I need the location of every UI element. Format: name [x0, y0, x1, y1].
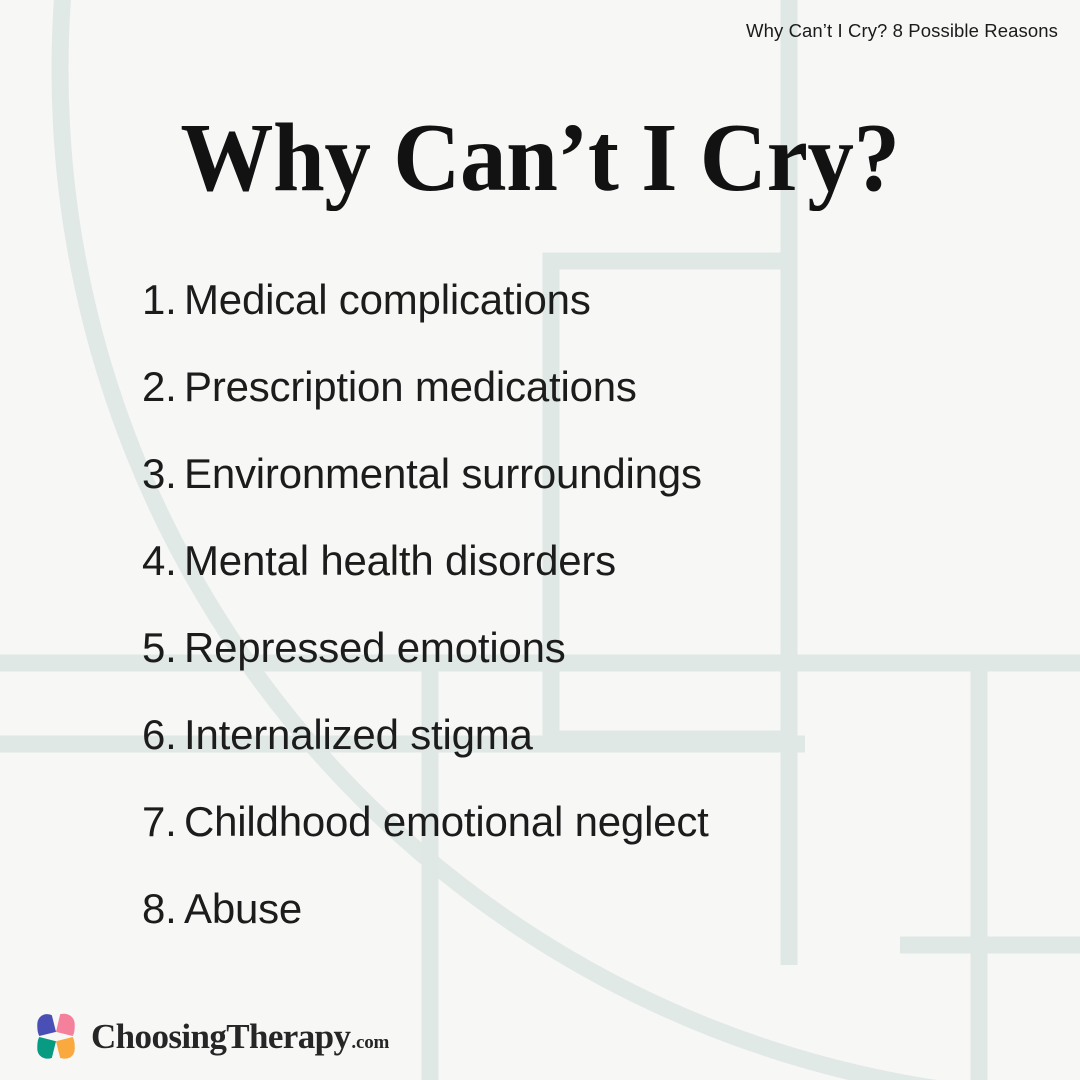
infographic-canvas: Why Can’t I Cry? 8 Possible Reasons Why …: [0, 0, 1080, 1080]
list-item-number: 7.: [142, 798, 184, 846]
list-item-label: Childhood emotional neglect: [184, 798, 962, 846]
reasons-list: 1. Medical complications 2. Prescription…: [142, 276, 962, 972]
logo-tld: .com: [351, 1033, 389, 1052]
choosingtherapy-flower-icon: [30, 1010, 82, 1062]
list-item: 7. Childhood emotional neglect: [142, 798, 962, 885]
list-item-number: 3.: [142, 450, 184, 498]
article-eyebrow: Why Can’t I Cry? 8 Possible Reasons: [746, 20, 1058, 42]
list-item-number: 5.: [142, 624, 184, 672]
list-item-number: 8.: [142, 885, 184, 933]
list-item-number: 1.: [142, 276, 184, 324]
list-item: 4. Mental health disorders: [142, 537, 962, 624]
page-title: Why Can’t I Cry?: [22, 108, 1059, 209]
list-item-number: 2.: [142, 363, 184, 411]
list-item-label: Mental health disorders: [184, 537, 962, 585]
list-item-number: 6.: [142, 711, 184, 759]
list-item: 6. Internalized stigma: [142, 711, 962, 798]
list-item: 8. Abuse: [142, 885, 962, 972]
brand-logo[interactable]: ChoosingTherapy.com: [30, 1010, 389, 1062]
list-item: 3. Environmental surroundings: [142, 450, 962, 537]
list-item-label: Internalized stigma: [184, 711, 962, 759]
logo-wordmark-text: ChoosingTherapy: [91, 1019, 350, 1054]
list-item-label: Medical complications: [184, 276, 962, 324]
list-item-number: 4.: [142, 537, 184, 585]
list-item: 5. Repressed emotions: [142, 624, 962, 711]
list-item-label: Environmental surroundings: [184, 450, 962, 498]
list-item-label: Prescription medications: [184, 363, 962, 411]
list-item: 1. Medical complications: [142, 276, 962, 363]
list-item-label: Repressed emotions: [184, 624, 962, 672]
logo-wordmark: ChoosingTherapy.com: [91, 1019, 389, 1054]
list-item-label: Abuse: [184, 885, 962, 933]
list-item: 2. Prescription medications: [142, 363, 962, 450]
